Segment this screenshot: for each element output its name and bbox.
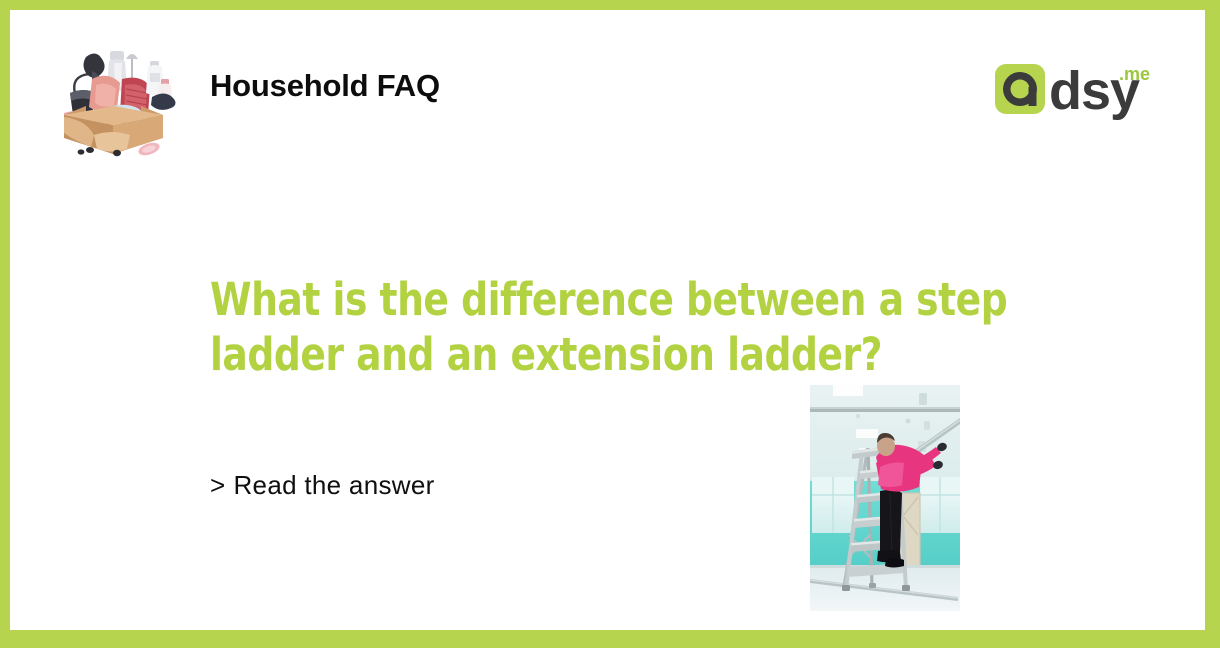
page-header: Household FAQ dsy .me — [10, 10, 1205, 165]
page-frame: Household FAQ dsy .me What is the — [0, 0, 1220, 648]
read-answer-label: Read the answer — [233, 470, 434, 500]
adsy-logo[interactable]: dsy .me — [995, 54, 1157, 124]
ladder-photo — [810, 385, 960, 611]
logo-mark-square — [995, 64, 1045, 114]
page-title: Household FAQ — [210, 68, 440, 104]
logo-tld: .me — [1119, 64, 1150, 84]
page-canvas: Household FAQ dsy .me What is the — [10, 10, 1205, 630]
chevron-right-icon: > — [210, 470, 225, 501]
headline: What is the difference between a step la… — [210, 272, 1047, 382]
household-box-illustration — [46, 35, 181, 160]
read-answer-link[interactable]: >Read the answer — [210, 470, 435, 501]
